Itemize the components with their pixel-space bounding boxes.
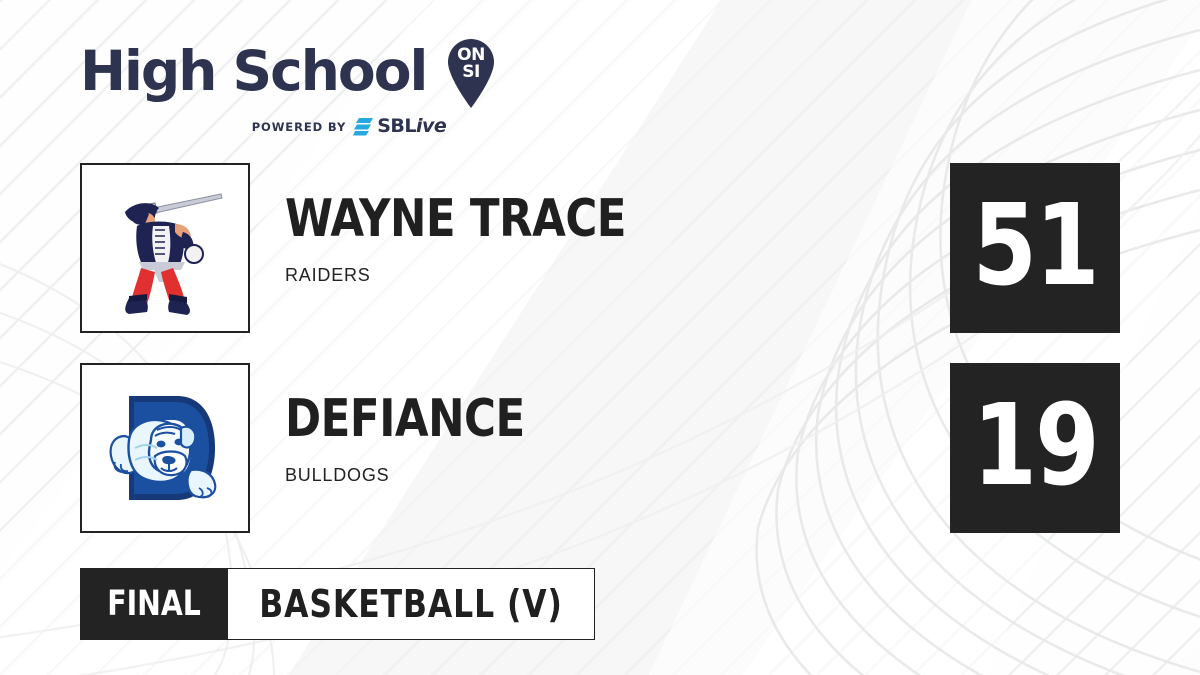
brand-title: High School [80, 44, 426, 99]
team-name: WAYNE TRACE [285, 193, 626, 245]
svg-text:SI: SI [463, 62, 481, 82]
powered-by-row: POWERED BY SBLive [80, 117, 510, 136]
team-score-box: 51 [950, 163, 1120, 333]
team-mascot: BULLDOGS [285, 465, 543, 486]
sblive-wordmark: SBLive [377, 117, 446, 136]
sblive-mark-icon [353, 117, 374, 136]
status-badge-label: FINAL [108, 584, 202, 624]
bulldog-d-logo [95, 378, 235, 518]
team-meta: WAYNE TRACE RAIDERS [285, 193, 652, 286]
team-name: DEFIANCE [285, 393, 525, 445]
sport-label-panel: BASKETBALL (V) [228, 569, 594, 639]
team-score: 51 [972, 190, 1097, 302]
status-badge: FINAL [81, 569, 228, 639]
sblive-italic: ive [416, 115, 446, 137]
team-mascot: RAIDERS [285, 265, 652, 286]
powered-by-label: POWERED BY [252, 120, 346, 134]
brand-wordmark: High School ON SI [80, 34, 510, 108]
game-status-bar: FINAL BASKETBALL (V) [80, 568, 595, 640]
sblive-logo: SBLive [353, 117, 446, 136]
sblive-main: SBL [377, 115, 416, 137]
raider-mascot-logo [95, 178, 235, 318]
team-score-box: 19 [950, 363, 1120, 533]
team-logo-box [80, 363, 250, 533]
on-si-pin-icon: ON SI [440, 34, 502, 108]
brand-logo: High School ON SI POWERED BY [80, 34, 510, 136]
team-meta: DEFIANCE BULLDOGS [285, 393, 543, 486]
team-logo-box [80, 163, 250, 333]
sport-label: BASKETBALL (V) [259, 582, 563, 626]
team-score: 19 [972, 390, 1097, 502]
